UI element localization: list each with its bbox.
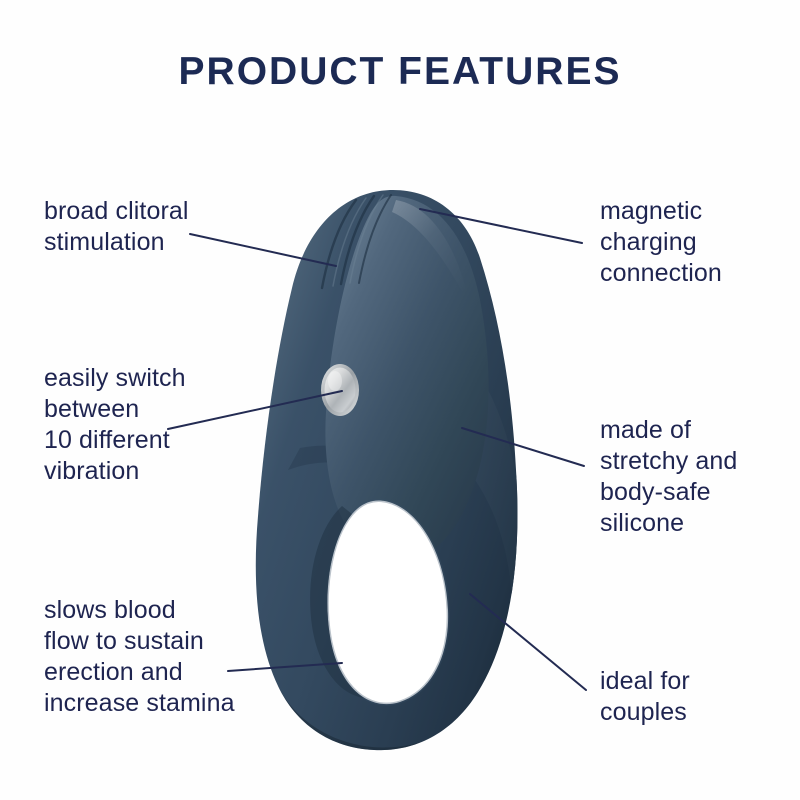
feature-label-ideal-for-couples: ideal for couples [600,666,800,728]
feature-label-made-of-stretchy-silicone: made of stretchy and body-safe silicone [600,415,800,539]
feature-label-easily-switch-vibration: easily switch between 10 different vibra… [44,363,294,487]
product-features-infographic: PRODUCT FEATURES [0,0,800,800]
power-button[interactable] [321,364,359,416]
power-button-highlight [328,371,342,391]
feature-label-slows-blood-flow: slows blood flow to sustain erection and… [44,595,304,719]
feature-label-broad-clitoral-stimulation: broad clitoral stimulation [44,196,284,258]
feature-label-magnetic-charging-connection: magnetic charging connection [600,196,800,289]
